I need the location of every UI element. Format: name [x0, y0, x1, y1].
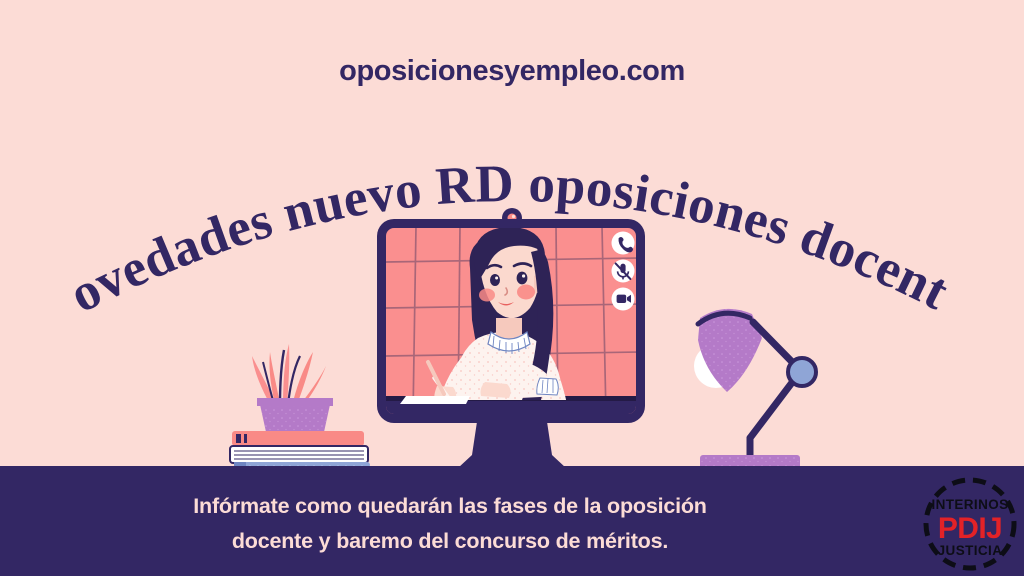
headline-text: Novedades nuevo RD oposiciones docentes: [0, 118, 958, 324]
caption-line-1: Infórmate como quedarán las fases de la …: [90, 489, 810, 524]
headline-textpath: Novedades nuevo RD oposiciones docentes: [0, 118, 958, 324]
site-url: oposicionesyempleo.com: [0, 55, 1024, 88]
headline-arc: Novedades nuevo RD oposiciones docentes: [0, 118, 1024, 328]
caption-line-2: docente y baremo del concurso de méritos…: [90, 524, 810, 559]
logo-bottom-text: JUSTICIA: [938, 543, 1003, 558]
poster-canvas: oposicionesyempleo.com Novedades nuevo R…: [0, 0, 1024, 576]
book-stack-group: [230, 344, 370, 476]
logo-main-text: PDIJ: [938, 512, 1002, 545]
logo-top-text: INTERINOS: [931, 497, 1008, 512]
desk-lamp: [694, 309, 816, 469]
potted-plant: [252, 344, 333, 436]
pdij-logo: INTERINOS PDIJ JUSTICIA: [922, 476, 1018, 572]
caption-block: Infórmate como quedarán las fases de la …: [90, 489, 810, 559]
